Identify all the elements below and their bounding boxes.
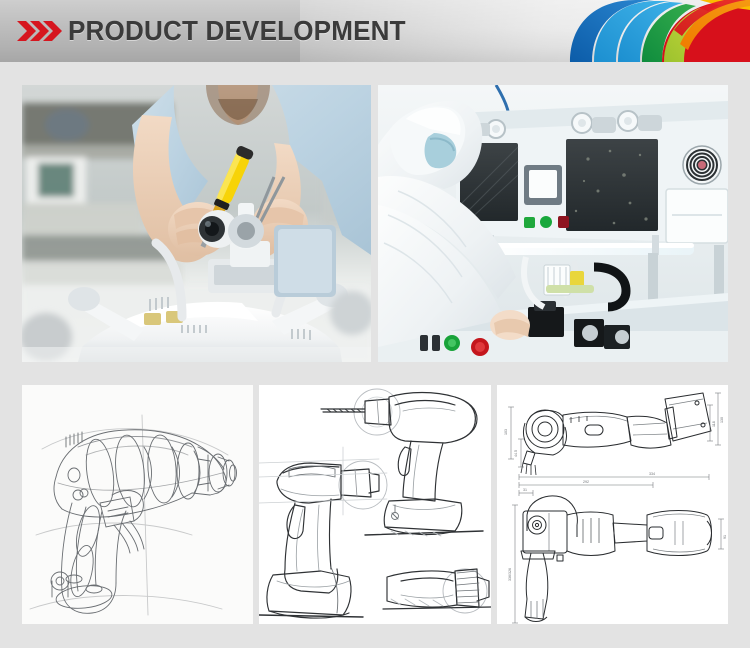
svg-text:130: 130 (720, 417, 724, 423)
rainbow-ribbon-decoration (550, 0, 750, 62)
sketch-cad-technical-drawing: 103 44.5 130 118 334 292 31 (497, 385, 728, 624)
photo-row (22, 85, 728, 362)
svg-text:334: 334 (649, 472, 655, 476)
technician-assembling-drone-image (22, 85, 371, 362)
page-title: PRODUCT DEVELOPMENT (68, 12, 406, 50)
sketch-row: 103 44.5 130 118 334 292 31 (22, 385, 728, 624)
concept-sketches-cordless-drill-image (259, 385, 491, 624)
photo-cleanroom-operator-machine (378, 85, 728, 362)
pencil-sketch-power-drill-image (22, 385, 253, 624)
cad-technical-drawing-angle-grinder-image: 103 44.5 130 118 334 292 31 (497, 385, 728, 624)
svg-text:292: 292 (583, 480, 589, 484)
svg-text:31: 31 (523, 488, 527, 492)
gallery-content: 103 44.5 130 118 334 292 31 (0, 62, 750, 648)
photo-technician-assembling-drone (22, 85, 371, 362)
svg-text:103: 103 (504, 429, 508, 435)
svg-text:91: 91 (723, 535, 727, 539)
svg-text:118: 118 (712, 421, 716, 427)
cleanroom-operator-machine-image (378, 85, 728, 362)
svg-text:44.5: 44.5 (514, 450, 518, 457)
page-header-banner: PRODUCT DEVELOPMENT (0, 0, 750, 62)
double-chevron-right-icon (17, 19, 63, 43)
sketch-concept-cordless-drill (259, 385, 491, 624)
sketch-pencil-power-drill (22, 385, 253, 624)
svg-text:336/326: 336/326 (508, 568, 512, 581)
